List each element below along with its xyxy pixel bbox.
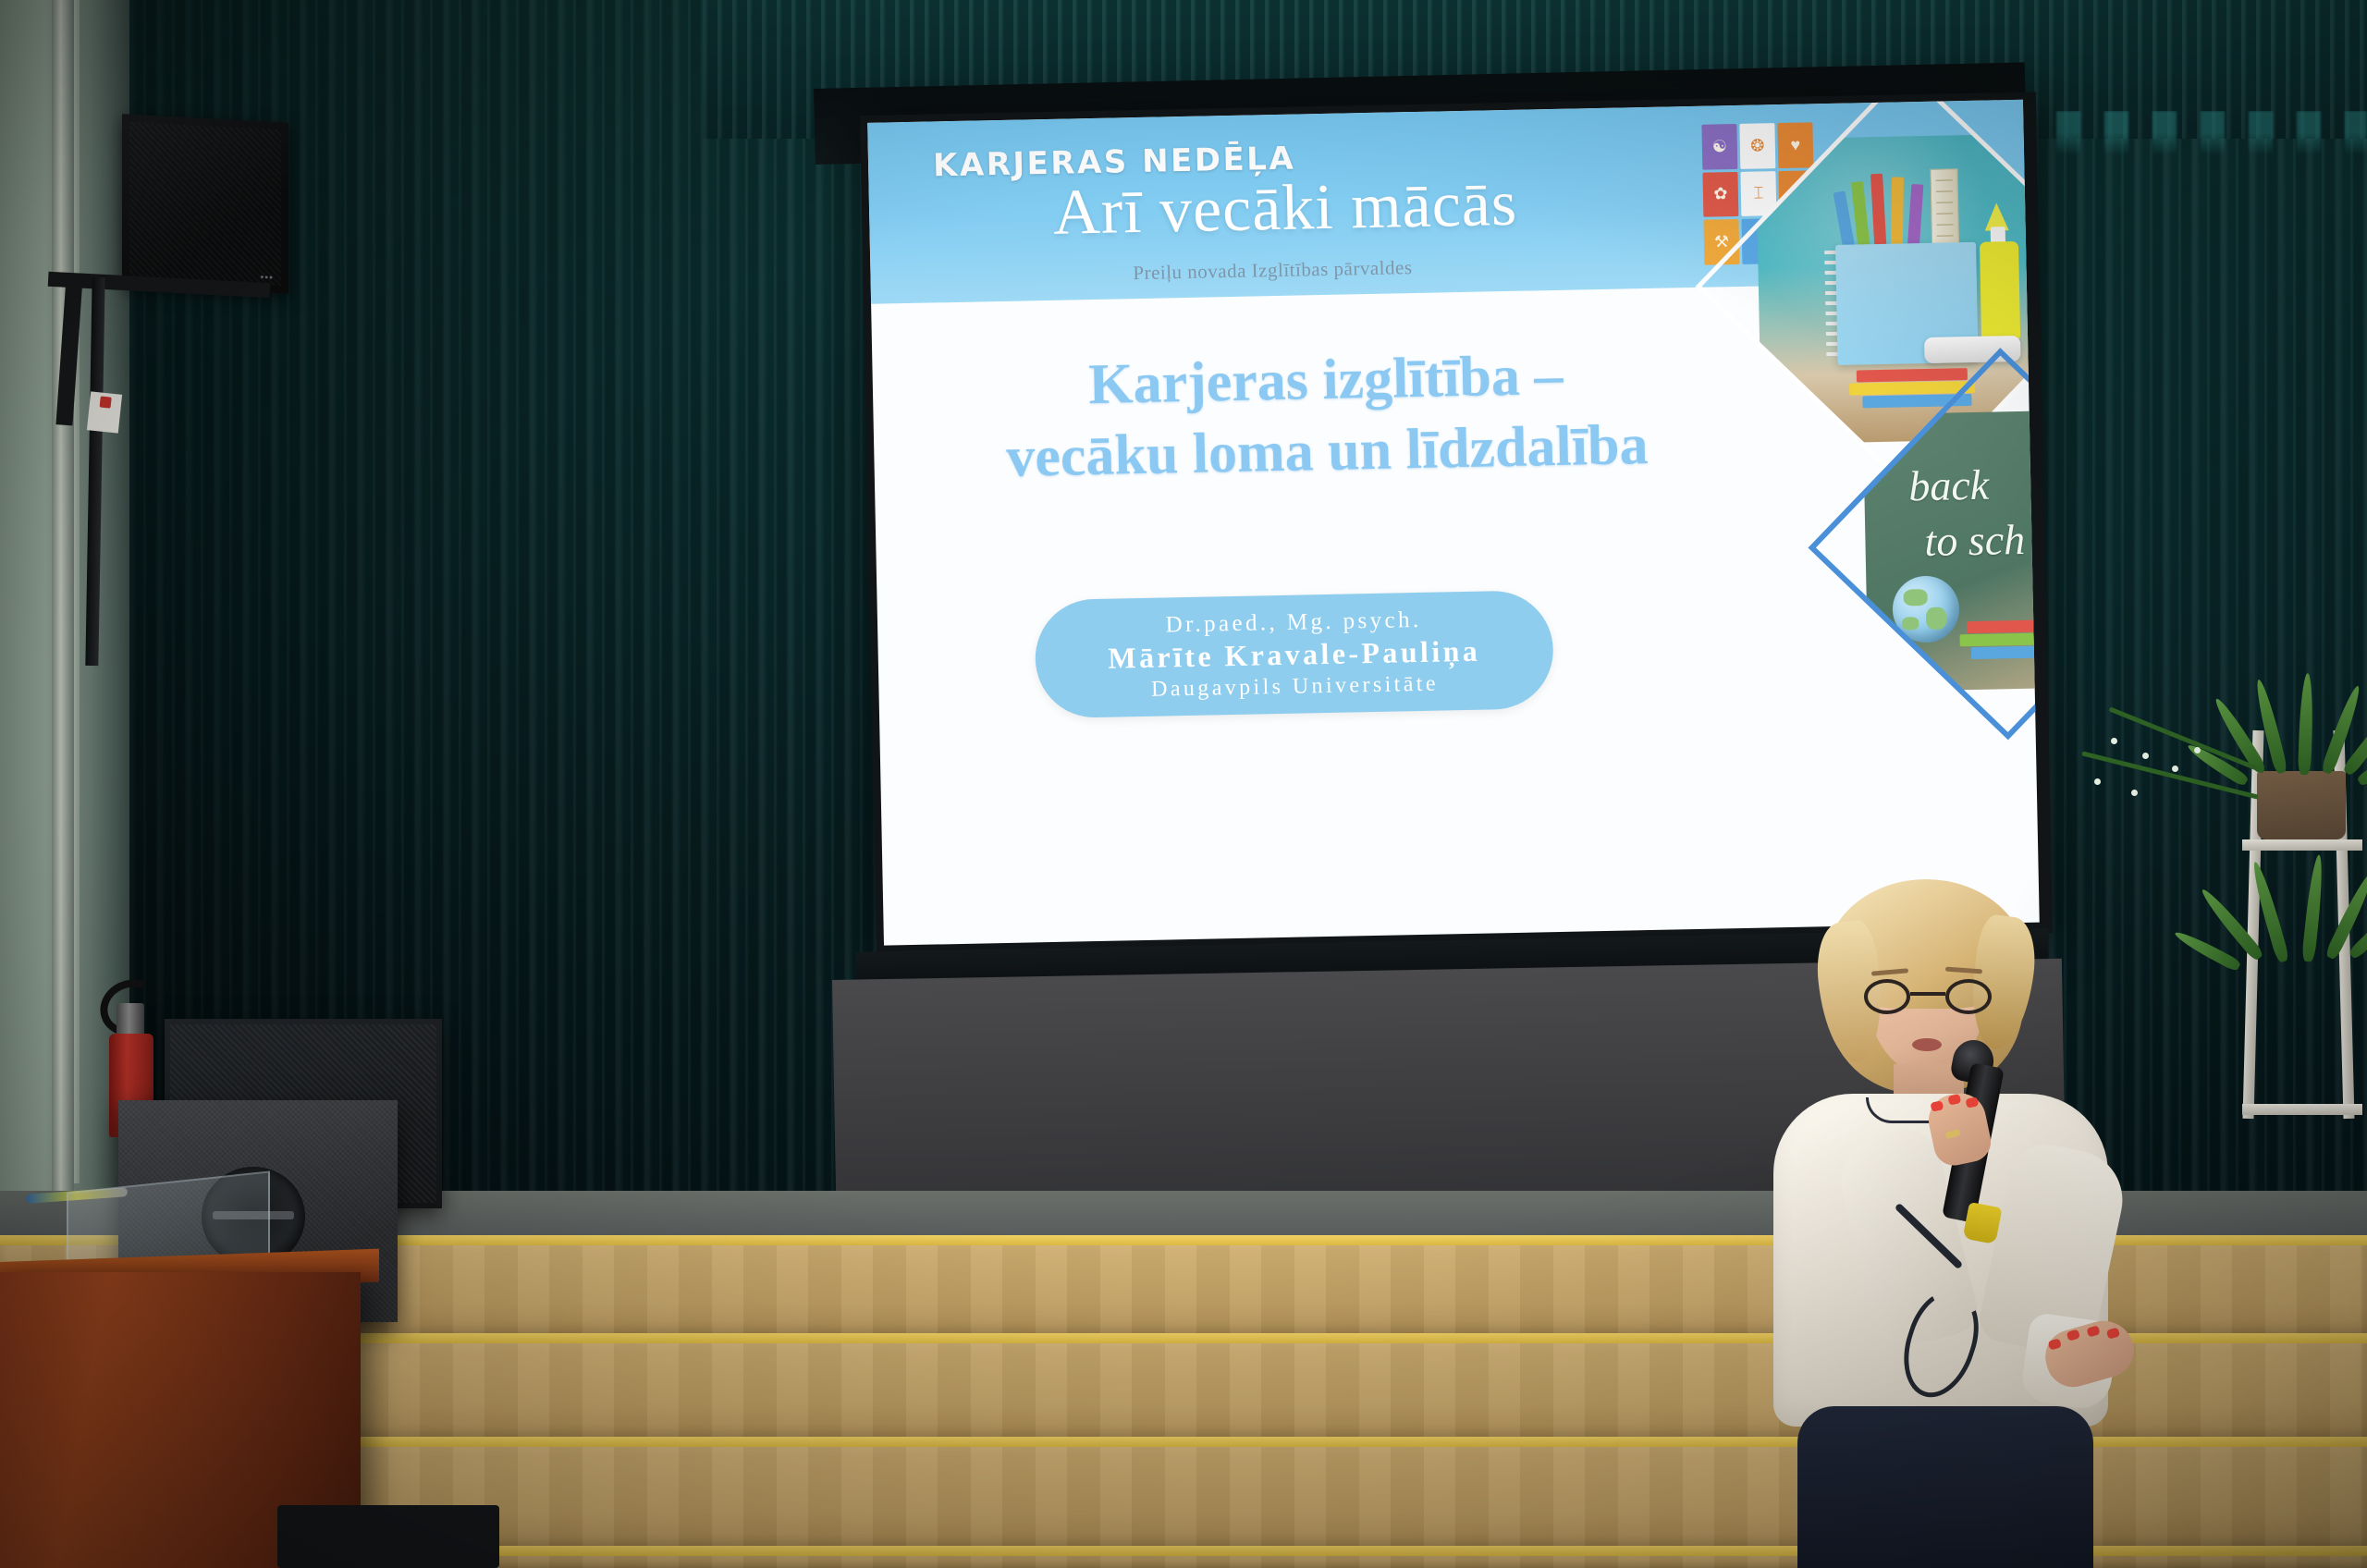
auditorium-scene: ••• KARJERAS NEDĒĻA Arī vecāki mācās Pre…	[0, 0, 2367, 1568]
fingernail	[2067, 1329, 2080, 1341]
dark-trousers	[1797, 1406, 2093, 1568]
fingernail	[1965, 1096, 1979, 1108]
globe-icon	[1892, 575, 1959, 643]
spider-plant-upper	[2237, 677, 2367, 788]
slide-photo-collage: back to sch	[1625, 100, 2040, 930]
author-badge: Dr.paed., Mg. psych. Mārīte Kravale-Paul…	[1035, 590, 1554, 718]
stand-shelf	[2242, 1104, 2362, 1115]
warning-label	[87, 391, 122, 433]
stand-shelf	[2242, 839, 2362, 851]
fingernail	[1947, 1094, 1961, 1105]
eyeglasses	[1864, 979, 1993, 1014]
slide-organization: Preiļu novada Izglītības pārvaldes	[870, 251, 1674, 289]
fingernail	[2086, 1325, 2100, 1337]
mouth	[1912, 1038, 1942, 1051]
fingernail	[2048, 1338, 2062, 1350]
author-degrees: Dr.paed., Mg. psych.	[1165, 606, 1422, 638]
projection-screen: KARJERAS NEDĒĻA Arī vecāki mācās Preiļu …	[860, 92, 2053, 956]
chalkboard-text-line1: back	[1908, 460, 1990, 511]
slide-main-title: Arī vecāki mācās	[868, 164, 1701, 254]
author-name: Mārīte Kravale-Pauliņa	[1108, 633, 1480, 675]
lens-left	[1864, 979, 1910, 1014]
chalkboard-text-line2: to sch	[1924, 515, 2026, 566]
author-affiliation: Daugavpils Universitāte	[1151, 671, 1439, 702]
slide-body-title: Karjeras izglītība – vecāku loma un līdz…	[927, 337, 1725, 495]
plant-stand	[2242, 730, 2362, 1119]
presenter-speaking	[1748, 883, 2145, 1568]
fingernail	[2106, 1328, 2120, 1340]
slide-body-title-line2: vecāku loma un līdzdalība	[929, 408, 1725, 495]
glasses-bridge	[1910, 992, 1945, 996]
projected-slide: KARJERAS NEDĒĻA Arī vecāki mācās Preiļu …	[867, 100, 2040, 946]
lens-right	[1945, 979, 1992, 1014]
speaker-grille	[129, 122, 281, 287]
wall-pipe	[52, 0, 74, 1193]
dark-bench	[277, 1505, 499, 1568]
fingernail	[1930, 1100, 1944, 1111]
spider-plant-lower	[2231, 851, 2367, 980]
wall-mounted-speaker: •••	[122, 114, 288, 293]
